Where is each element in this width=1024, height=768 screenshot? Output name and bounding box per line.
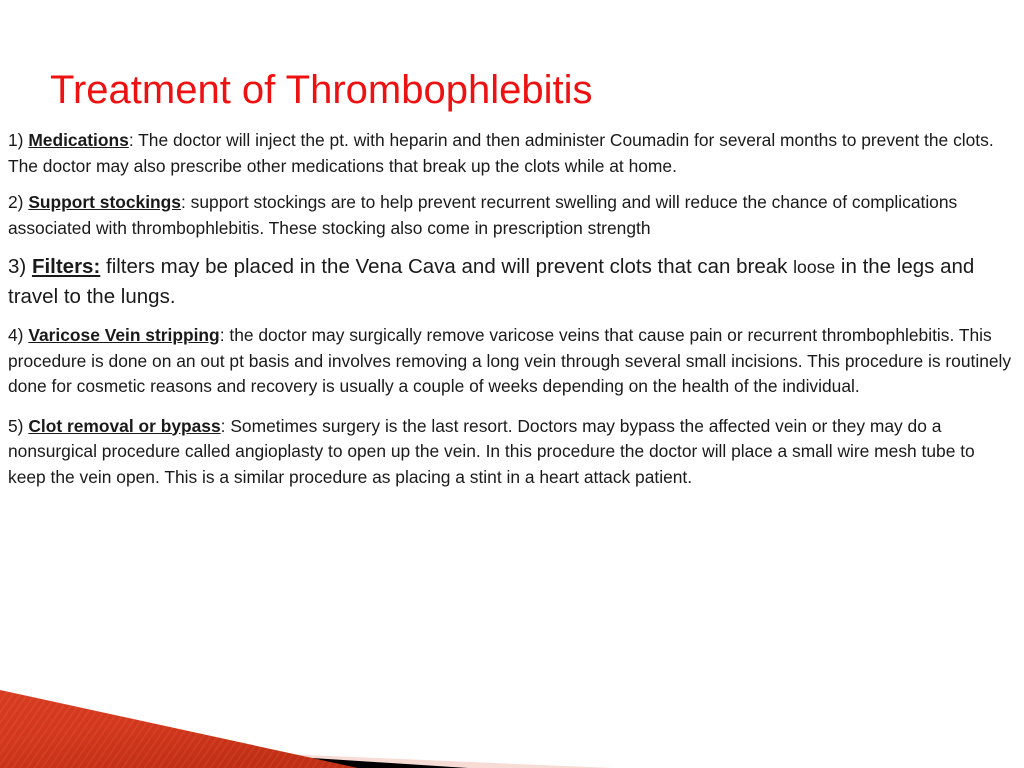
slide-body: 1) Medications: The doctor will inject t…	[8, 128, 1016, 501]
item-lead: Varicose Vein stripping	[28, 325, 219, 345]
red-band	[0, 690, 358, 768]
list-item: 2) Support stockings: support stockings …	[8, 190, 1016, 241]
item-body-before: filters may be placed in the Vena Cava a…	[100, 255, 793, 278]
item-lead: Medications	[28, 130, 129, 150]
item-lead: Support stockings	[28, 192, 181, 212]
pink-band-fill	[0, 742, 612, 768]
item-body-emphasis: loose	[793, 257, 835, 277]
item-lead: Clot removal or bypass	[28, 416, 220, 436]
item-lead: Filters:	[32, 255, 100, 278]
pink-band	[0, 744, 610, 768]
red-band-texture	[0, 690, 358, 768]
slide: Treatment of Thrombophlebitis 1) Medicat…	[0, 0, 1024, 768]
item-body: The doctor will inject the pt. with hepa…	[8, 130, 994, 176]
item-number: 4)	[8, 325, 23, 345]
item-number: 2)	[8, 192, 23, 212]
corner-decoration	[0, 648, 1024, 768]
item-number: 3)	[8, 255, 26, 278]
item-number: 5)	[8, 416, 23, 436]
list-item: 4) Varicose Vein stripping: the doctor m…	[8, 323, 1016, 400]
item-number: 1)	[8, 130, 23, 150]
list-item: 5) Clot removal or bypass: Sometimes sur…	[8, 414, 1016, 491]
corner-decoration-graphic	[0, 648, 1024, 768]
page-title: Treatment of Thrombophlebitis	[50, 65, 980, 115]
list-item: 1) Medications: The doctor will inject t…	[8, 128, 1016, 179]
list-item: 3) Filters: filters may be placed in the…	[8, 252, 1016, 311]
black-band	[0, 738, 468, 768]
